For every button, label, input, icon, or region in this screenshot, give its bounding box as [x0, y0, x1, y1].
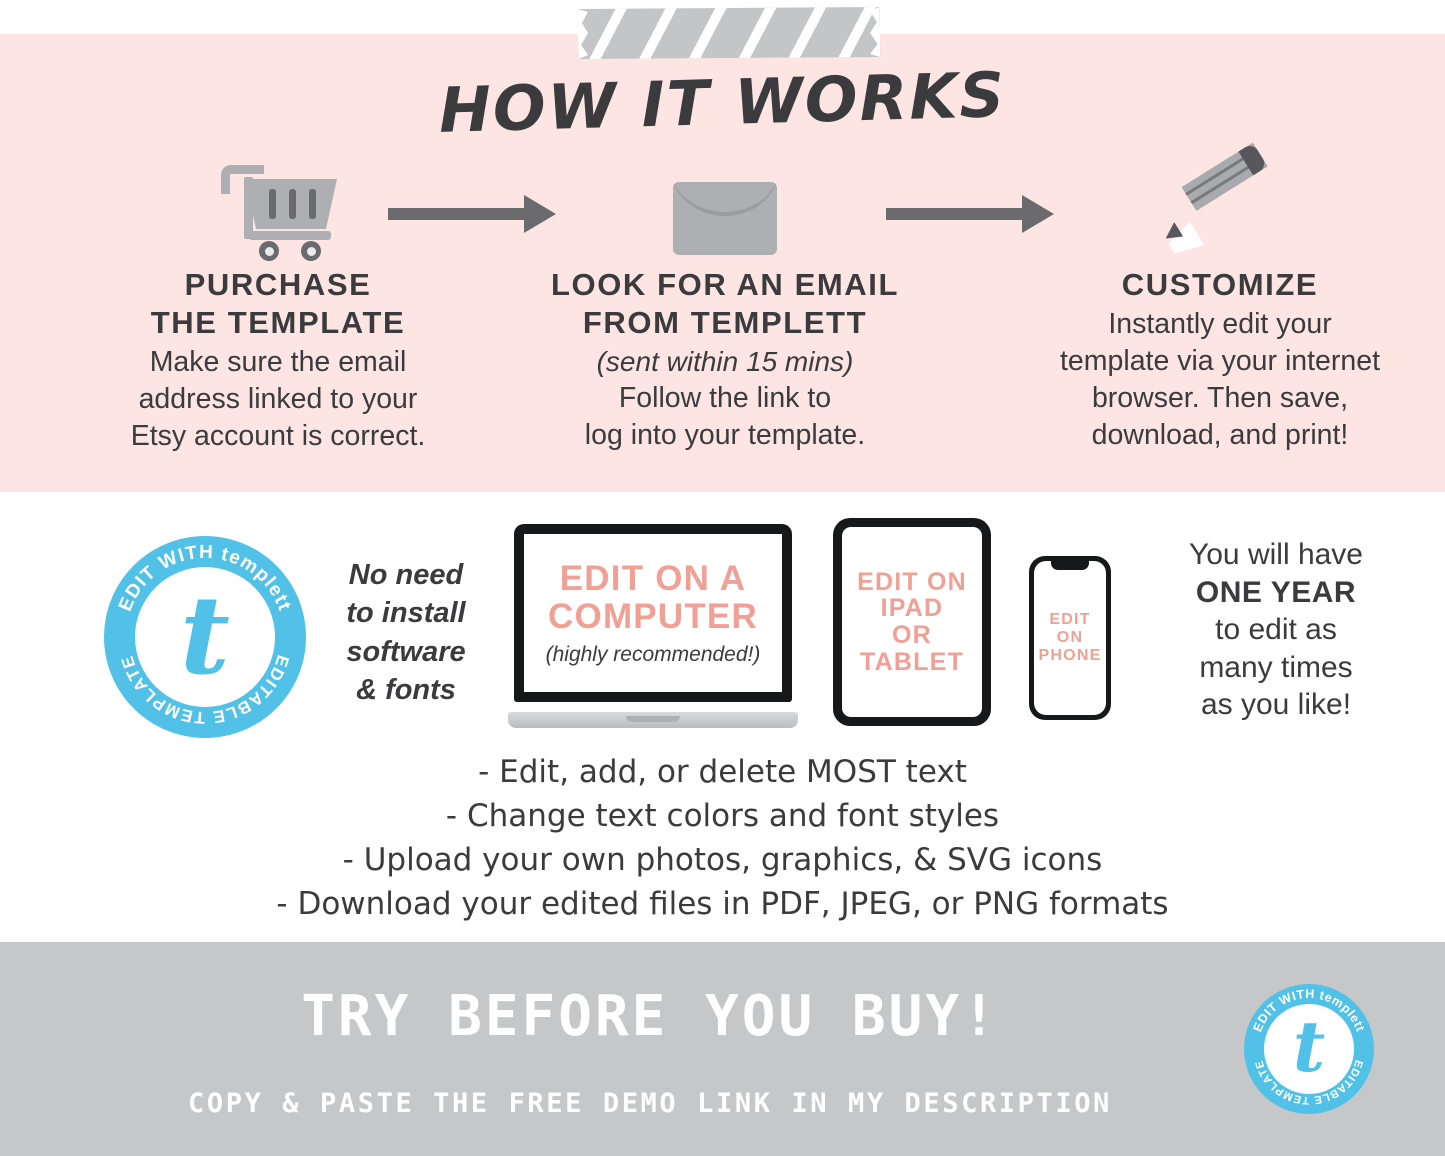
pencil-body — [1182, 143, 1268, 211]
badge-top-arc: EDIT WITH templett — [115, 542, 295, 614]
step-icon-slot — [505, 150, 945, 255]
tablet-screen-title: EDIT ON IPAD OR TABLET — [857, 569, 967, 676]
no-install-line: to install — [330, 594, 482, 632]
one-year-line: many times — [1122, 649, 1430, 687]
step-body-line: Etsy account is correct. — [88, 418, 468, 455]
badge-top-arc: EDIT WITH templett — [1250, 987, 1367, 1034]
tablet-title-line: IPAD — [857, 595, 967, 622]
step-body-line: Instantly edit your — [1010, 306, 1430, 343]
one-year-line: as you like! — [1122, 686, 1430, 724]
step-heading: PURCHASE THE TEMPLATE — [88, 266, 468, 342]
no-install-note: No need to install software & fonts — [330, 556, 482, 709]
footer-headline: TRY BEFORE YOU BUY! — [0, 984, 1300, 1049]
cart-wheel — [259, 241, 279, 261]
laptop-title-line: EDIT ON A — [548, 560, 758, 599]
footer-banner — [0, 942, 1445, 1156]
one-year-highlight: ONE YEAR — [1196, 576, 1356, 609]
badge-arc-text: EDIT WITH templett EDITABLE TEMPLATE — [104, 536, 306, 738]
laptop-mockup: EDIT ON A COMPUTER (highly recommended!) — [508, 524, 798, 734]
step-heading-line: CUSTOMIZE — [1010, 266, 1430, 304]
templett-badge-footer: t EDIT WITH templett EDITABLE TEMPLATE — [1244, 984, 1374, 1114]
step-italic-note: (sent within 15 mins) — [505, 344, 945, 380]
phone-screen-title: EDIT ON PHONE — [1039, 611, 1102, 665]
step-heading-line: PURCHASE — [88, 266, 468, 304]
step-heading-line: FROM TEMPLETT — [505, 304, 945, 342]
phone-title-line: PHONE — [1039, 647, 1102, 665]
svg-text:EDITABLE TEMPLATE: EDITABLE TEMPLATE — [117, 653, 292, 727]
svg-text:EDITABLE TEMPLATE: EDITABLE TEMPLATE — [1253, 1059, 1364, 1107]
step-body-line: template via your internet — [1010, 343, 1430, 380]
badge-bottom-arc: EDITABLE TEMPLATE — [117, 653, 292, 727]
washi-tape-icon — [578, 7, 880, 59]
step-body-line: download, and print! — [1010, 417, 1430, 454]
list-item: - Edit, add, or delete MOST text — [0, 750, 1445, 794]
laptop-screen: EDIT ON A COMPUTER (highly recommended!) — [524, 534, 782, 692]
badge-arc-text: EDIT WITH templett EDITABLE TEMPLATE — [1244, 984, 1374, 1114]
list-item: - Download your edited files in PDF, JPE… — [0, 882, 1445, 926]
one-year-line: You will have — [1122, 536, 1430, 574]
cart-wheel — [301, 241, 321, 261]
no-install-line: & fonts — [330, 671, 482, 709]
list-item: - Upload your own photos, graphics, & SV… — [0, 838, 1445, 882]
step-body-line: log into your template. — [505, 417, 945, 454]
feature-list: - Edit, add, or delete MOST text - Chang… — [0, 750, 1445, 926]
cart-slot — [269, 189, 276, 219]
one-year-note: You will have ONE YEAR to edit as many t… — [1122, 536, 1430, 724]
envelope-icon — [673, 182, 777, 255]
phone-title-line: ON — [1039, 629, 1102, 647]
phone-screen: EDIT ON PHONE — [1034, 561, 1106, 715]
phone-notch — [1051, 561, 1089, 570]
step-heading: CUSTOMIZE — [1010, 266, 1430, 304]
laptop-screen-subtitle: (highly recommended!) — [546, 643, 761, 667]
badge-bottom-arc: EDITABLE TEMPLATE — [1253, 1059, 1364, 1107]
cart-slot — [289, 189, 296, 219]
laptop-title-line: COMPUTER — [548, 598, 758, 637]
no-install-line: software — [330, 633, 482, 671]
step-customize: CUSTOMIZE Instantly edit your template v… — [1010, 150, 1430, 454]
phone-mockup: EDIT ON PHONE — [1029, 556, 1111, 720]
tape-right-edge — [870, 7, 880, 57]
footer-subline: COPY & PASTE THE FREE DEMO LINK IN MY DE… — [0, 1088, 1300, 1119]
step-body-line: browser. Then save, — [1010, 380, 1430, 417]
laptop-lid: EDIT ON A COMPUTER (highly recommended!) — [514, 524, 792, 702]
laptop-trackpad-notch — [626, 716, 680, 722]
step-body-line: address linked to your — [88, 381, 468, 418]
step-body: Instantly edit your template via your in… — [1010, 306, 1430, 454]
tablet-screen: EDIT ON IPAD OR TABLET — [842, 527, 982, 717]
step-body-line: Follow the link to — [505, 380, 945, 417]
step-icon-slot — [88, 150, 468, 255]
step-icon-slot — [1010, 150, 1430, 255]
cart-bottom-bar — [249, 231, 331, 240]
phone-title-line: EDIT — [1039, 611, 1102, 629]
templett-badge: t EDIT WITH templett EDITABLE TEMPLATE — [104, 536, 306, 738]
pencil-icon — [1161, 159, 1279, 255]
tablet-title-line: TABLET — [857, 649, 967, 676]
step-body: (sent within 15 mins) Follow the link to… — [505, 344, 945, 454]
pencil-wood — [1164, 221, 1204, 261]
tablet-mockup: EDIT ON IPAD OR TABLET — [833, 518, 991, 726]
list-item: - Change text colors and font styles — [0, 794, 1445, 838]
tape-left-edge — [578, 9, 588, 59]
laptop-screen-title: EDIT ON A COMPUTER — [548, 560, 758, 637]
poster-canvas: HOW IT WORKS — [0, 0, 1445, 1156]
svg-text:EDIT WITH templett: EDIT WITH templett — [1250, 987, 1367, 1034]
step-purchase: PURCHASE THE TEMPLATE Make sure the emai… — [88, 150, 468, 455]
shopping-cart-icon — [219, 155, 337, 255]
tablet-title-line: OR — [857, 622, 967, 649]
steps-row: PURCHASE THE TEMPLATE Make sure the emai… — [0, 150, 1445, 470]
step-heading-line: THE TEMPLATE — [88, 304, 468, 342]
step-heading-line: LOOK FOR AN EMAIL — [505, 266, 945, 304]
step-heading: LOOK FOR AN EMAIL FROM TEMPLETT — [505, 266, 945, 342]
svg-text:EDIT WITH templett: EDIT WITH templett — [115, 542, 295, 614]
tablet-title-line: EDIT ON — [857, 569, 967, 596]
one-year-line: to edit as — [1122, 611, 1430, 649]
no-install-line: No need — [330, 556, 482, 594]
step-body-line: Make sure the email — [88, 344, 468, 381]
cart-slot — [309, 189, 316, 219]
step-look-for-email: LOOK FOR AN EMAIL FROM TEMPLETT (sent wi… — [505, 150, 945, 454]
step-body: Make sure the email address linked to yo… — [88, 344, 468, 455]
envelope-flap — [673, 182, 777, 216]
